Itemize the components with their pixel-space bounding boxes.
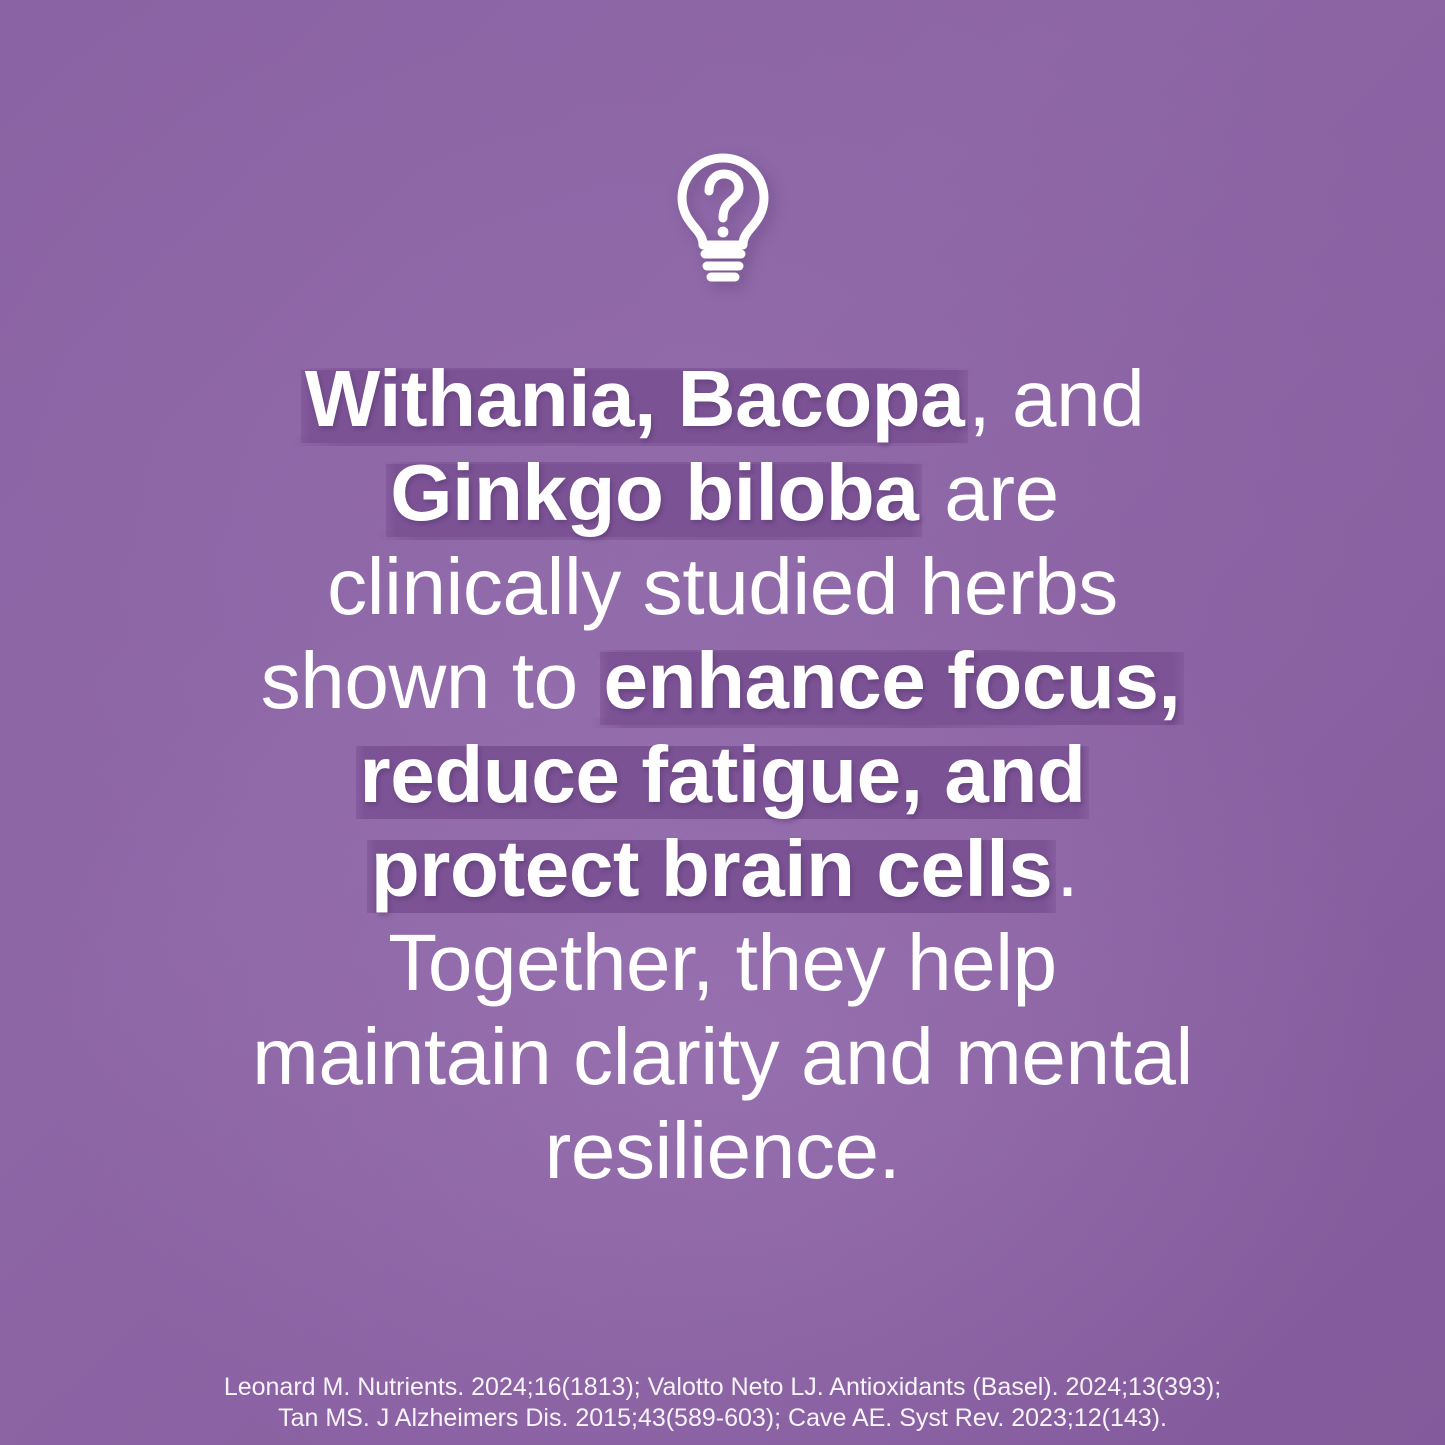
headline-bold-herbs-2: Ginkgo biloba <box>386 448 922 537</box>
headline-light-1: , and <box>968 354 1144 443</box>
headline-bold-herbs-1: Withania, Bacopa <box>301 354 969 443</box>
icon-container <box>0 150 1445 282</box>
lightbulb-question-icon <box>664 150 782 282</box>
slide-canvas: Withania, Bacopa, and Ginkgo biloba are … <box>0 0 1445 1445</box>
citation-line-2: Tan MS. J Alzheimers Dis. 2015;43(589-60… <box>133 1403 1313 1434</box>
citation-line-1: Leonard M. Nutrients. 2024;16(1813); Val… <box>133 1372 1313 1403</box>
headline-text: Withania, Bacopa, and Ginkgo biloba are … <box>248 352 1198 1198</box>
citation-footer: Leonard M. Nutrients. 2024;16(1813); Val… <box>133 1372 1313 1434</box>
